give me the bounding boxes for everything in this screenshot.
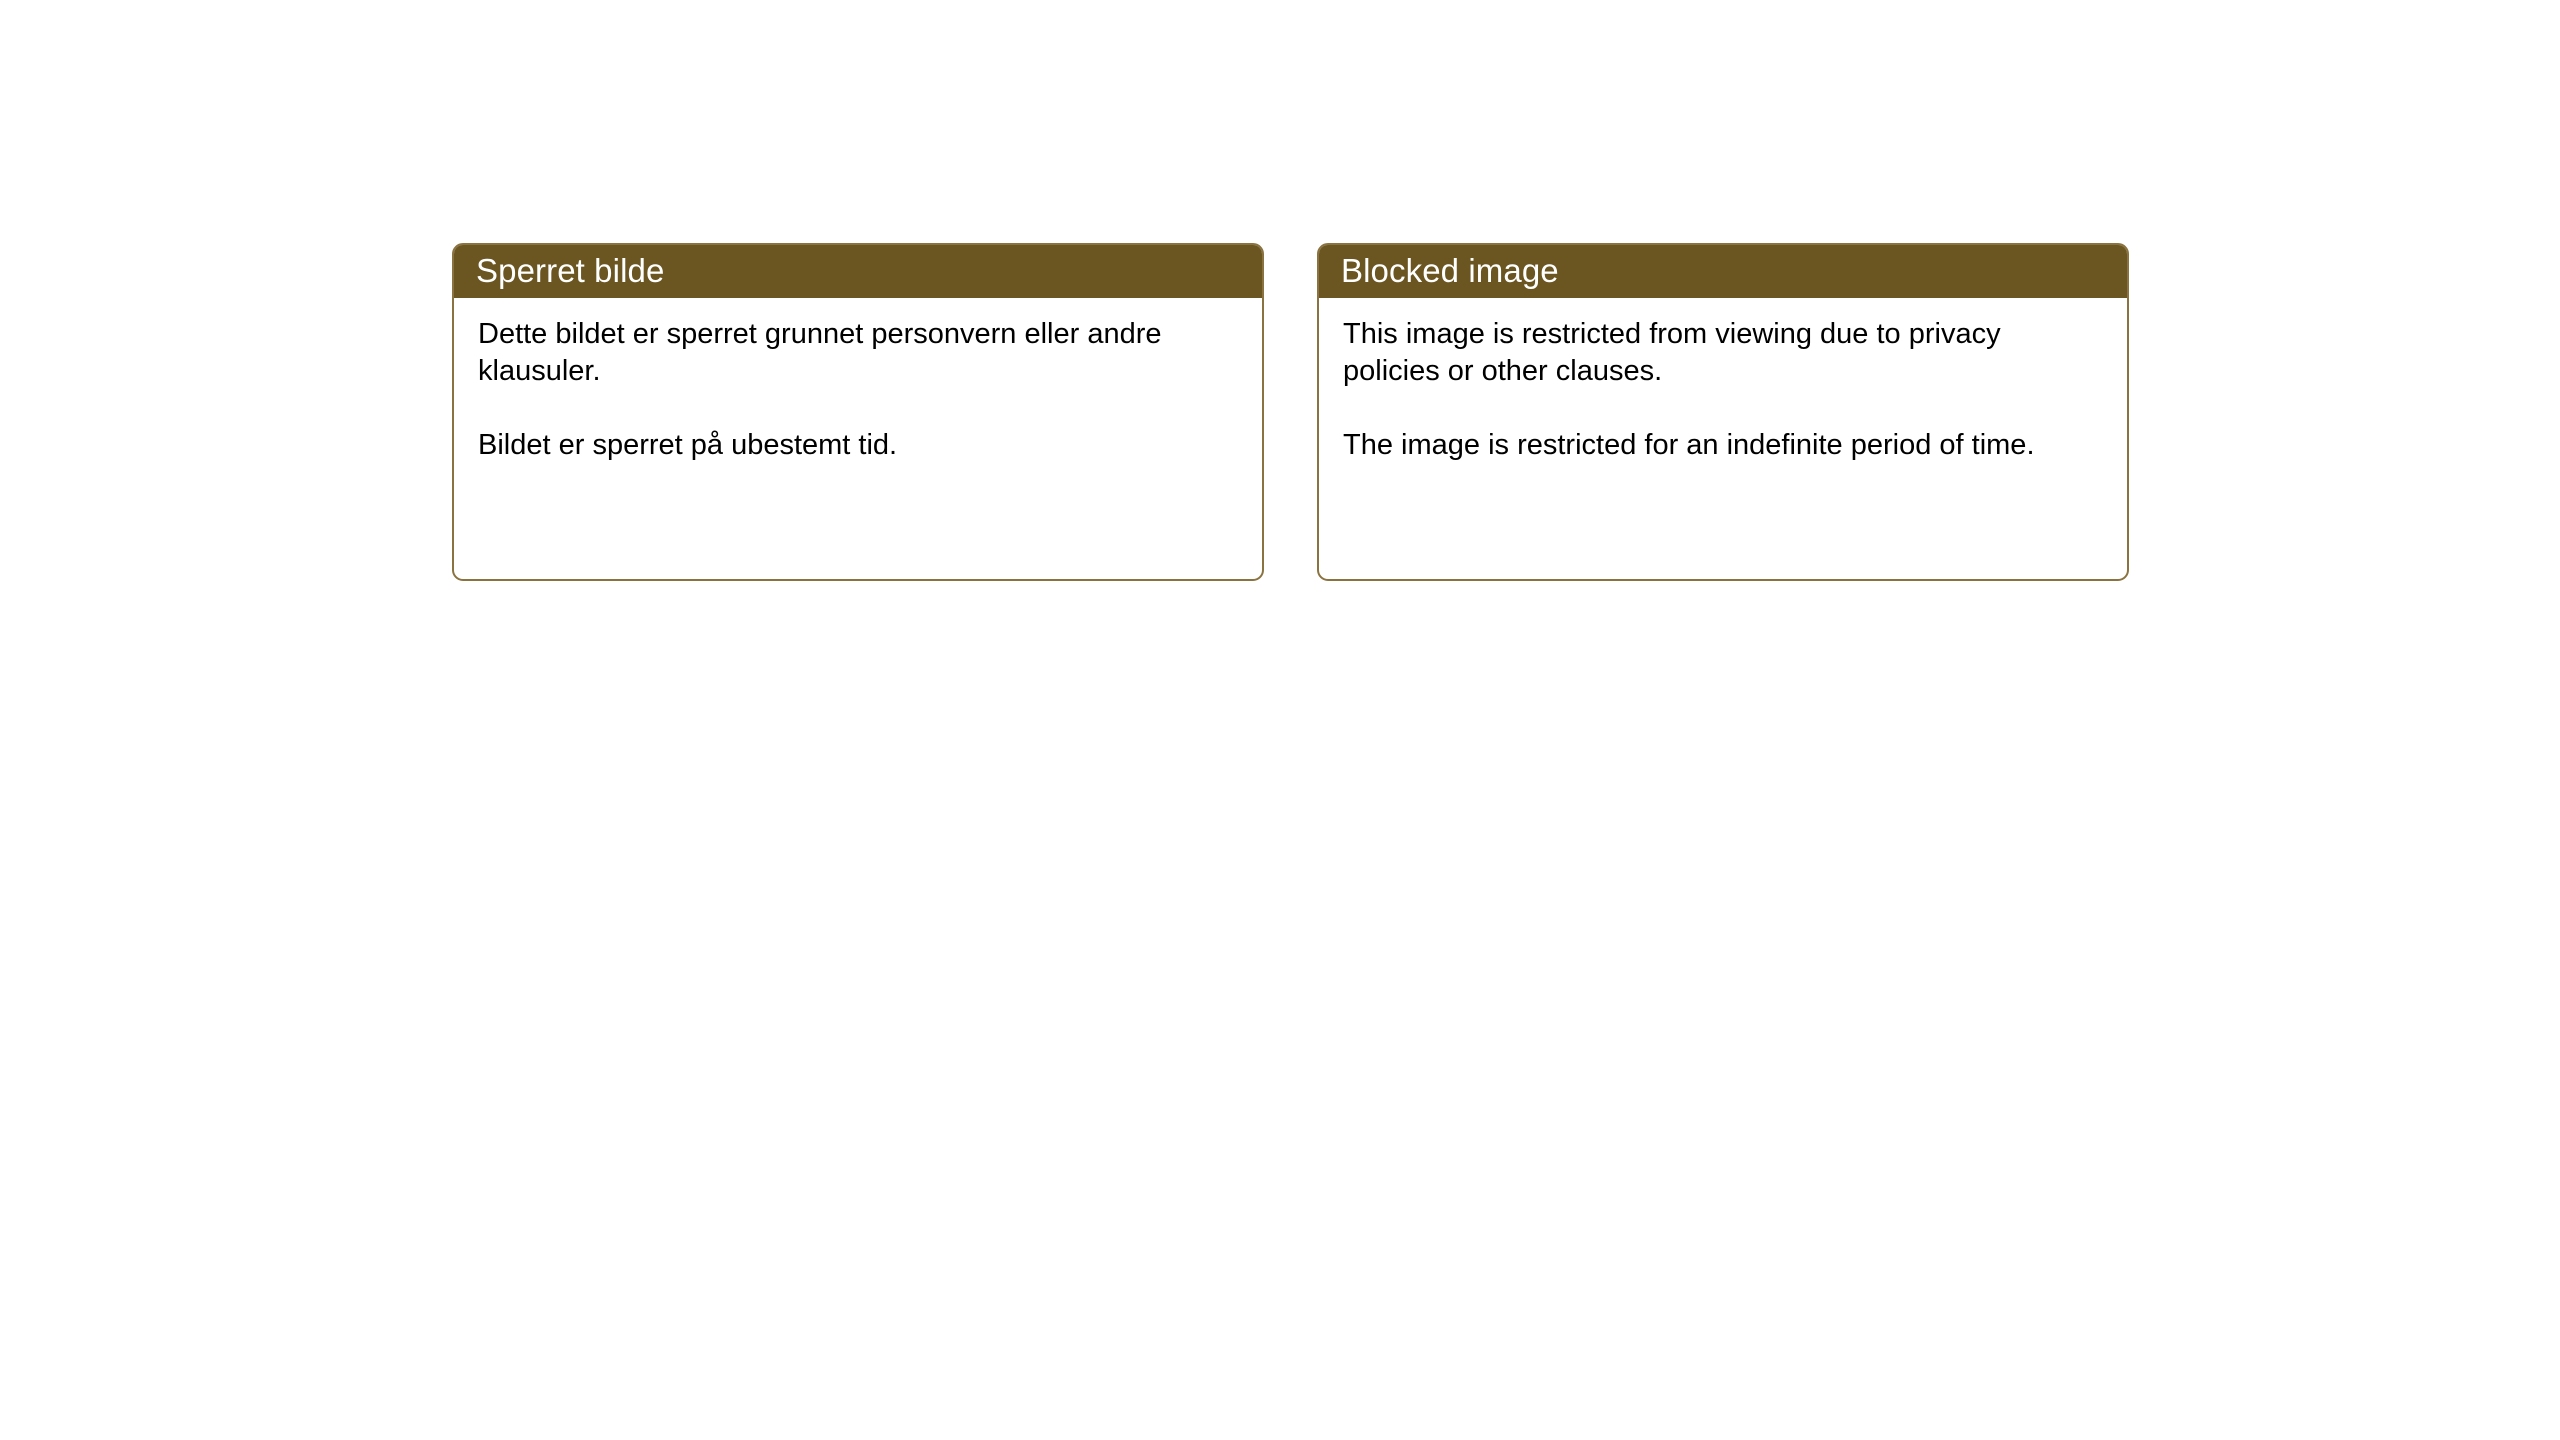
card-paragraph-secondary-english: The image is restricted for an indefinit… [1343,427,2105,464]
blocked-image-notice-group: Sperret bilde Dette bildet er sperret gr… [452,243,2129,581]
card-title-norwegian: Sperret bilde [476,254,664,287]
card-paragraph-primary-norwegian: Dette bildet er sperret grunnet personve… [478,316,1240,390]
blocked-image-card-english: Blocked image This image is restricted f… [1317,243,2129,581]
card-body-english: This image is restricted from viewing du… [1319,298,2127,579]
card-paragraph-secondary-norwegian: Bildet er sperret på ubestemt tid. [478,427,1240,464]
page-root: Sperret bilde Dette bildet er sperret gr… [0,0,2560,1440]
blocked-image-card-norwegian: Sperret bilde Dette bildet er sperret gr… [452,243,1264,581]
card-paragraph-primary-english: This image is restricted from viewing du… [1343,316,2105,390]
card-body-norwegian: Dette bildet er sperret grunnet personve… [454,298,1262,579]
card-header-norwegian: Sperret bilde [452,243,1264,298]
card-header-english: Blocked image [1317,243,2129,298]
card-title-english: Blocked image [1341,254,1559,287]
